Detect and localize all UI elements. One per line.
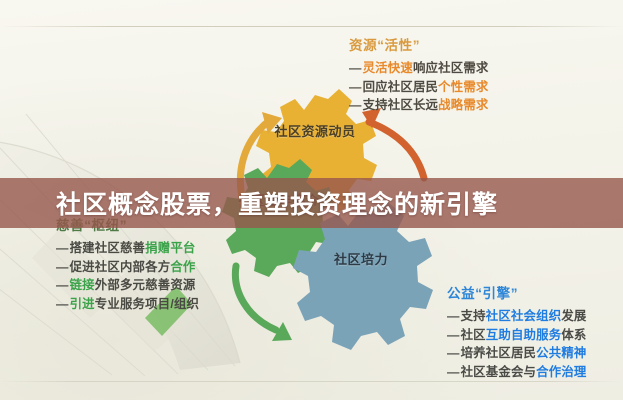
bullet-keyword: 合作 xyxy=(170,260,195,274)
bullet-dash: — xyxy=(56,278,69,292)
bullet-text: 响应社区需求 xyxy=(413,61,489,75)
bullet-item: —引进专业服务项目/组织 xyxy=(56,295,199,314)
bullet-item: —培养社区居民公共精神 xyxy=(447,344,587,363)
bullet-dash: — xyxy=(349,61,362,75)
text-block-resource: 资源“活性” —灵活快速响应社区需求—回应社区居民个性需求—支持社区长远战略需求 xyxy=(349,36,489,115)
bullet-dash: — xyxy=(56,297,69,311)
bullet-item: —促进社区内部各方合作 xyxy=(56,258,199,277)
bullet-keyword: 捐赠平台 xyxy=(145,241,195,255)
bullet-dash: — xyxy=(56,241,69,255)
bullet-dash: — xyxy=(349,98,362,112)
bullet-keyword: 互助自助服务 xyxy=(486,328,562,342)
bullet-item: —社区基金会与合作治理 xyxy=(447,363,587,382)
bullet-dash: — xyxy=(447,365,460,379)
bullet-keyword: 引进 xyxy=(70,297,95,311)
bullet-text: 支持 xyxy=(461,309,486,323)
bullet-text: 专业服务项目/组织 xyxy=(95,297,199,311)
bullet-keyword: 灵活快速 xyxy=(363,61,413,75)
bullet-keyword: 社区社会组织 xyxy=(486,309,562,323)
bullet-text: 社区基金会与 xyxy=(461,365,537,379)
bullet-text: 体系 xyxy=(561,328,586,342)
bullet-item: —支持社区社会组织发展 xyxy=(447,307,587,326)
bullet-keyword: 公共精神 xyxy=(536,346,586,360)
bullet-text: 培养社区居民 xyxy=(461,346,537,360)
text-block-charity: 慈善“枢纽” —搭建社区慈善捐赠平台—促进社区内部各方合作—链接外部多元慈善资源… xyxy=(56,216,199,314)
gear-label-gold: 社区资源动员 xyxy=(272,124,358,140)
bullet-dash: — xyxy=(447,328,460,342)
bullet-keyword: 战略需求 xyxy=(438,98,488,112)
bullet-keyword: 合作治理 xyxy=(536,365,586,379)
title-overlay-band: 社区概念股票，重塑投资理念的新引擎 xyxy=(0,178,623,228)
bullet-dash: — xyxy=(349,80,362,94)
gear-label-blue: 社区培力 xyxy=(318,252,404,268)
bullet-item: —回应社区居民个性需求 xyxy=(349,78,489,97)
bullet-keyword: 个性需求 xyxy=(438,80,488,94)
bullet-text: 回应社区居民 xyxy=(363,80,439,94)
bullet-text: 搭建社区慈善 xyxy=(70,241,146,255)
bullet-text: 发展 xyxy=(561,309,586,323)
bullet-dash: — xyxy=(56,260,69,274)
page-title: 社区概念股票，重塑投资理念的新引擎 xyxy=(0,185,498,221)
bullet-text: 外部多元慈善资源 xyxy=(95,278,196,292)
text-block-public: 公益“引擎” —支持社区社会组织发展—社区互助自助服务体系—培养社区居民公共精神… xyxy=(447,284,587,382)
block-heading-public: 公益“引擎” xyxy=(447,284,587,304)
bullet-keyword: 链接 xyxy=(70,278,95,292)
infographic-image: 社区资源动员 社区合作媒介 社区培力 资源“活性” —灵活快速响应社区需求—回应… xyxy=(0,0,623,400)
bullet-item: —搭建社区慈善捐赠平台 xyxy=(56,239,199,258)
bullet-dash: — xyxy=(447,309,460,323)
bullet-item: —支持社区长远战略需求 xyxy=(349,96,489,115)
bullet-text: 社区 xyxy=(461,328,486,342)
bullet-item: —社区互助自助服务体系 xyxy=(447,326,587,345)
flow-arrow-orange xyxy=(369,122,424,178)
bullet-text: 促进社区内部各方 xyxy=(70,260,171,274)
bullet-item: —灵活快速响应社区需求 xyxy=(349,59,489,78)
bullet-text: 支持社区长远 xyxy=(363,98,439,112)
bullet-list-resource: —灵活快速响应社区需求—回应社区居民个性需求—支持社区长远战略需求 xyxy=(349,59,489,115)
bullet-list-public: —支持社区社会组织发展—社区互助自助服务体系—培养社区居民公共精神—社区基金会与… xyxy=(447,307,587,381)
bullet-item: —链接外部多元慈善资源 xyxy=(56,276,199,295)
block-heading-resource: 资源“活性” xyxy=(349,36,489,56)
bullet-list-charity: —搭建社区慈善捐赠平台—促进社区内部各方合作—链接外部多元慈善资源—引进专业服务… xyxy=(56,239,199,313)
bullet-dash: — xyxy=(447,346,460,360)
